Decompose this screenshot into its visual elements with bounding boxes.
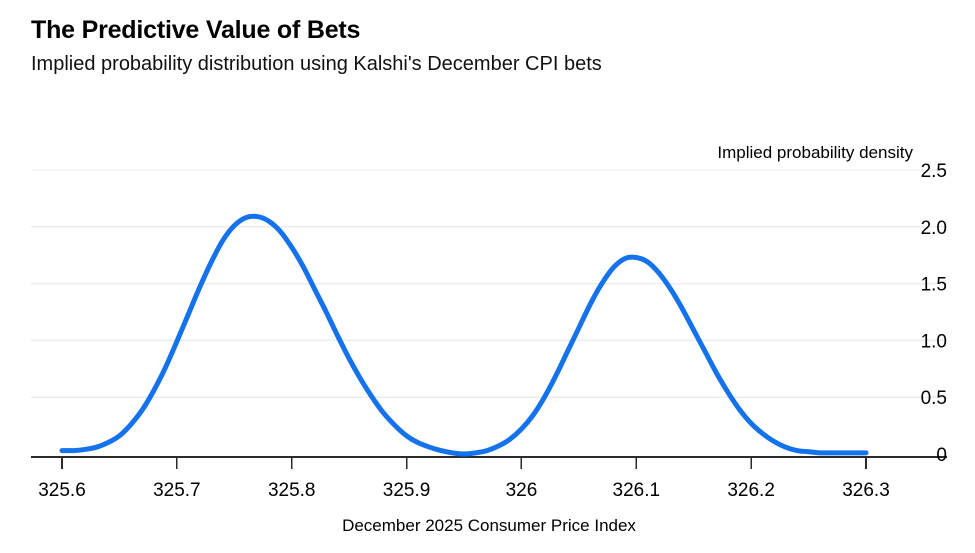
- y-tick-label: 2.5: [921, 161, 947, 182]
- x-tick-label: 325.7: [153, 480, 201, 501]
- density-curve-line: [62, 216, 866, 454]
- y-tick-label: 1.0: [921, 331, 947, 352]
- y-tick-label: 1.5: [921, 275, 947, 296]
- chart-page: The Predictive Value of Bets Implied pro…: [0, 0, 975, 553]
- chart-plot-area: 2.52.01.51.00.50 325.6325.7325.8325.9326…: [0, 0, 975, 553]
- x-tick-marks: [62, 457, 866, 469]
- y-tick-labels: 2.52.01.51.00.50: [921, 161, 947, 466]
- series-group: [62, 216, 866, 454]
- y-tick-label: 2.0: [921, 218, 947, 239]
- density-chart-svg: 2.52.01.51.00.50 325.6325.7325.8325.9326…: [0, 0, 975, 553]
- x-tick-label: 326.3: [842, 480, 890, 501]
- x-tick-label: 326: [506, 480, 538, 501]
- x-tick-labels: 325.6325.7325.8325.9326326.1326.2326.3: [38, 480, 890, 501]
- y-tick-label: 0.5: [921, 388, 947, 409]
- x-tick-label: 326.1: [613, 480, 661, 501]
- x-tick-label: 326.2: [727, 480, 775, 501]
- x-tick-label: 325.6: [38, 480, 86, 501]
- y-tick-label: 0: [936, 445, 947, 466]
- x-axis: [31, 457, 947, 469]
- x-tick-label: 325.8: [268, 480, 316, 501]
- x-tick-label: 325.9: [383, 480, 431, 501]
- y-axis-title: Implied probability density: [717, 143, 913, 162]
- x-axis-title: December 2025 Consumer Price Index: [342, 516, 636, 535]
